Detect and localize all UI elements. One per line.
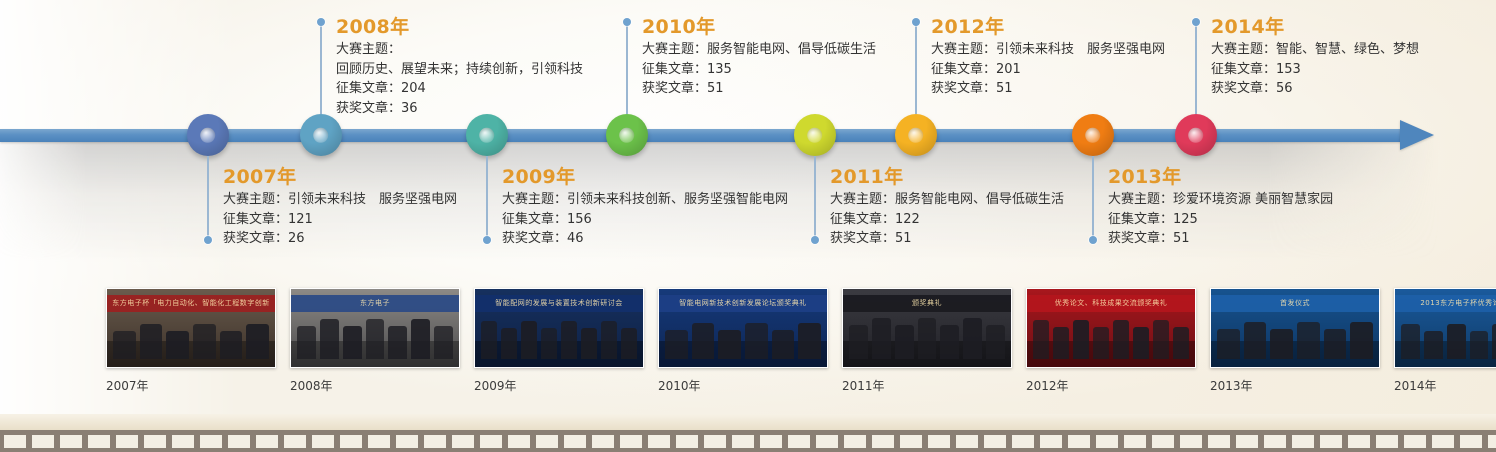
timeline-card-2010: 2010年 大赛主题：服务智能电网、倡导低碳生活 征集文章：135 获奖文章：5…: [642, 16, 876, 99]
gallery-item[interactable]: 优秀论文、科技成果交流颁奖典礼2012年: [1026, 288, 1194, 394]
photo-person: [1053, 327, 1069, 359]
photo-person: [1270, 329, 1293, 359]
timeline-stem-cap-2009: [483, 236, 491, 244]
filmstrip-hole: [788, 435, 810, 448]
filmstrip-hole: [1404, 435, 1426, 448]
timeline-dot-2009[interactable]: [466, 114, 508, 156]
timeline-dot-2007[interactable]: [187, 114, 229, 156]
filmstrip-hole: [88, 435, 110, 448]
timeline-stem-2013: [1092, 156, 1094, 240]
theme-line: 大赛主题：珍爱环境资源 美丽智慧家园: [1108, 190, 1333, 210]
photo-person: [621, 328, 637, 359]
filmstrip-hole: [732, 435, 754, 448]
filmstrip-hole: [536, 435, 558, 448]
gallery-caption: 2014年: [1394, 377, 1496, 394]
photo-banner-text: 东方电子杯「电力自动化、智能化工程数字创新技术」: [111, 297, 271, 310]
photo-person: [849, 325, 868, 359]
photo-person: [388, 326, 407, 359]
theme-line: 大赛主题：服务智能电网、倡导低碳生活: [830, 190, 1064, 210]
photo-person: [895, 325, 914, 359]
photo-person: [193, 324, 216, 359]
filmstrip-hole: [1012, 435, 1034, 448]
filmstrip-hole: [396, 435, 418, 448]
gallery-photo[interactable]: 东方电子: [290, 288, 460, 368]
awarded-line: 获奖文章：26: [223, 229, 457, 249]
filmstrip-hole: [592, 435, 614, 448]
filmstrip-hole: [4, 435, 26, 448]
footer-gradient-band: [0, 414, 1496, 430]
filmstrip-hole: [1096, 435, 1118, 448]
photo-person: [320, 319, 339, 359]
photo-person: [434, 326, 453, 359]
timeline-card-2007: 2007年 大赛主题：引领未来科技 服务坚强电网 征集文章：121 获奖文章：2…: [223, 166, 457, 249]
gallery-caption: 2013年: [1210, 377, 1378, 394]
filmstrip-hole: [928, 435, 950, 448]
gallery-item[interactable]: 智能电网新技术创新发展论坛颁奖典礼2010年: [658, 288, 826, 394]
timeline: 2007年 大赛主题：引领未来科技 服务坚强电网 征集文章：121 获奖文章：2…: [0, 0, 1496, 268]
gallery-caption: 2009年: [474, 377, 642, 394]
gallery-photo[interactable]: 优秀论文、科技成果交流颁奖典礼: [1026, 288, 1196, 368]
photo-person: [601, 321, 617, 359]
filmstrip-hole: [704, 435, 726, 448]
photo-people: [1401, 315, 1496, 359]
timeline-stem-cap-2007: [204, 236, 212, 244]
gallery-caption: 2010年: [658, 377, 826, 394]
photo-people: [849, 315, 1005, 359]
filmstrip-hole: [844, 435, 866, 448]
photo-person: [343, 326, 362, 359]
theme-line: 大赛主题：引领未来科技 服务坚强电网: [931, 40, 1165, 60]
filmstrip-hole: [1068, 435, 1090, 448]
year-label: 2008年: [336, 16, 583, 38]
photo-people: [665, 315, 821, 359]
gallery-caption: 2011年: [842, 377, 1010, 394]
photo-people: [113, 315, 269, 359]
photo-banner-text: 优秀论文、科技成果交流颁奖典礼: [1031, 297, 1191, 310]
photo-person: [1492, 324, 1496, 359]
photo-gallery: 东方电子杯「电力自动化、智能化工程数字创新技术」2007年东方电子2008年智能…: [106, 288, 1496, 394]
timeline-dot-2008[interactable]: [300, 114, 342, 156]
photo-person: [745, 323, 768, 359]
filmstrip-hole: [1208, 435, 1230, 448]
filmstrip-hole: [1376, 435, 1398, 448]
timeline-stem-2014: [1195, 22, 1197, 114]
year-label: 2009年: [502, 166, 788, 188]
photo-person: [581, 328, 597, 359]
filmstrip-border: [0, 430, 1496, 452]
photo-person: [411, 319, 430, 359]
filmstrip-hole: [424, 435, 446, 448]
photo-person: [1217, 329, 1240, 359]
photo-person: [665, 330, 688, 359]
filmstrip-hole: [760, 435, 782, 448]
timeline-stem-2008: [320, 22, 322, 114]
filmstrip-hole: [1264, 435, 1286, 448]
filmstrip-hole: [900, 435, 922, 448]
gallery-caption: 2007年: [106, 377, 274, 394]
year-label: 2014年: [1211, 16, 1419, 38]
photo-person: [521, 321, 537, 359]
timeline-card-2008: 2008年 大赛主题： 回顾历史、展望未来；持续创新，引领科技 征集文章：204…: [336, 16, 583, 118]
timeline-card-2011: 2011年 大赛主题：服务智能电网、倡导低碳生活 征集文章：122 获奖文章：5…: [830, 166, 1064, 249]
filmstrip-hole: [32, 435, 54, 448]
photo-person: [220, 331, 243, 359]
awarded-line: 获奖文章：46: [502, 229, 788, 249]
photo-people: [481, 315, 637, 359]
photo-person: [1324, 329, 1347, 359]
submitted-line: 征集文章：153: [1211, 60, 1419, 80]
photo-person: [1113, 320, 1129, 359]
submitted-line: 征集文章：122: [830, 210, 1064, 230]
photo-person: [798, 323, 821, 359]
photo-person: [940, 325, 959, 359]
filmstrip-hole: [1152, 435, 1174, 448]
filmstrip-hole: [452, 435, 474, 448]
photo-person: [872, 318, 891, 359]
filmstrip-hole: [480, 435, 502, 448]
timeline-card-2012: 2012年 大赛主题：引领未来科技 服务坚强电网 征集文章：201 获奖文章：5…: [931, 16, 1165, 99]
photo-person: [1350, 322, 1373, 359]
gallery-item[interactable]: 2013东方电子杯优秀论文颁奖典礼2014年: [1394, 288, 1496, 394]
photo-person: [481, 321, 497, 359]
year-label: 2007年: [223, 166, 457, 188]
filmstrip-hole: [172, 435, 194, 448]
photo-person: [297, 326, 316, 359]
photo-person: [1297, 322, 1320, 359]
filmstrip-hole: [1320, 435, 1342, 448]
photo-person: [1033, 320, 1049, 359]
filmstrip-hole: [1180, 435, 1202, 448]
gallery-photo[interactable]: 智能配网的发展与装置技术创新研讨会: [474, 288, 644, 368]
photo-person: [1093, 327, 1109, 359]
theme-line: 大赛主题：智能、智慧、绿色、梦想: [1211, 40, 1419, 60]
timeline-stem-cap-2012: [912, 18, 920, 26]
photo-person: [561, 321, 577, 359]
photo-banner-text: 颁奖典礼: [847, 297, 1007, 310]
timeline-stem-2011: [814, 156, 816, 240]
photo-person: [1401, 324, 1420, 359]
photo-person: [718, 330, 741, 359]
photo-person: [1153, 320, 1169, 359]
filmstrip-hole: [956, 435, 978, 448]
filmstrip-hole: [816, 435, 838, 448]
gallery-photo[interactable]: 2013东方电子杯优秀论文颁奖典礼: [1394, 288, 1496, 368]
filmstrip-hole: [60, 435, 82, 448]
filmstrip-hole: [1460, 435, 1482, 448]
timeline-card-2013: 2013年 大赛主题：珍爱环境资源 美丽智慧家园 征集文章：125 获奖文章：5…: [1108, 166, 1333, 249]
photo-person: [501, 328, 517, 359]
awarded-line: 获奖文章：51: [830, 229, 1064, 249]
theme-line: 大赛主题：引领未来科技 服务坚强电网: [223, 190, 457, 210]
photo-person: [246, 324, 269, 359]
timeline-dot-2014[interactable]: [1175, 114, 1217, 156]
filmstrip-hole: [564, 435, 586, 448]
photo-people: [1217, 315, 1373, 359]
year-label: 2012年: [931, 16, 1165, 38]
awarded-line: 获奖文章：51: [931, 79, 1165, 99]
filmstrip-hole: [984, 435, 1006, 448]
timeline-card-2009: 2009年 大赛主题：引领未来科技创新、服务坚强智能电网 征集文章：156 获奖…: [502, 166, 788, 249]
submitted-line: 征集文章：204: [336, 79, 583, 99]
filmstrip-hole: [312, 435, 334, 448]
timeline-stem-2012: [915, 22, 917, 114]
awarded-line: 获奖文章：51: [642, 79, 876, 99]
submitted-line: 征集文章：135: [642, 60, 876, 80]
photo-person: [1133, 327, 1149, 359]
filmstrip-hole: [620, 435, 642, 448]
photo-person: [1173, 327, 1189, 359]
photo-person: [986, 325, 1005, 359]
filmstrip-hole: [1292, 435, 1314, 448]
timeline-stem-2010: [626, 22, 628, 114]
timeline-stem-cap-2014: [1192, 18, 1200, 26]
photo-people: [1033, 315, 1189, 359]
timeline-stem-cap-2010: [623, 18, 631, 26]
awarded-line: 获奖文章：56: [1211, 79, 1419, 99]
filmstrip-hole: [508, 435, 530, 448]
filmstrip-hole: [116, 435, 138, 448]
filmstrip-hole: [1348, 435, 1370, 448]
gallery-item[interactable]: 东方电子杯「电力自动化、智能化工程数字创新技术」2007年: [106, 288, 274, 394]
filmstrip-hole: [200, 435, 222, 448]
photo-banner-text: 首发仪式: [1215, 297, 1375, 310]
gallery-photo[interactable]: 智能电网新技术创新发展论坛颁奖典礼: [658, 288, 828, 368]
photo-person: [113, 331, 136, 359]
photo-banner-text: 智能电网新技术创新发展论坛颁奖典礼: [663, 297, 823, 310]
timeline-stem-cap-2011: [811, 236, 819, 244]
timeline-stem-cap-2008: [317, 18, 325, 26]
photo-person: [1424, 331, 1443, 359]
photo-person: [1447, 324, 1466, 359]
photo-person: [1073, 320, 1089, 359]
theme-line: 回顾历史、展望未来；持续创新，引领科技: [336, 60, 583, 80]
gallery-item[interactable]: 智能配网的发展与装置技术创新研讨会2009年: [474, 288, 642, 394]
filmstrip-hole: [1432, 435, 1454, 448]
theme-label-line: 大赛主题：: [336, 40, 583, 60]
gallery-item[interactable]: 首发仪式2013年: [1210, 288, 1378, 394]
filmstrip-hole: [1488, 435, 1496, 448]
filmstrip-hole: [1236, 435, 1258, 448]
submitted-line: 征集文章：125: [1108, 210, 1333, 230]
photo-person: [963, 318, 982, 359]
filmstrip-hole: [228, 435, 250, 448]
awarded-line: 获奖文章：36: [336, 99, 583, 119]
photo-people: [297, 315, 453, 359]
gallery-item[interactable]: 东方电子2008年: [290, 288, 458, 394]
gallery-photo[interactable]: 东方电子杯「电力自动化、智能化工程数字创新技术」: [106, 288, 276, 368]
theme-line: 大赛主题：服务智能电网、倡导低碳生活: [642, 40, 876, 60]
timeline-stem-2009: [486, 156, 488, 240]
awarded-line: 获奖文章：51: [1108, 229, 1333, 249]
photo-banner-text: 2013东方电子杯优秀论文颁奖典礼: [1399, 297, 1496, 310]
filmstrip-hole: [676, 435, 698, 448]
filmstrip-hole: [872, 435, 894, 448]
filmstrip-hole: [648, 435, 670, 448]
gallery-photo[interactable]: 首发仪式: [1210, 288, 1380, 368]
timeline-dot-2010[interactable]: [606, 114, 648, 156]
timeline-dot-2011[interactable]: [794, 114, 836, 156]
photo-person: [366, 319, 385, 359]
infographic-canvas: 2007年 大赛主题：引领未来科技 服务坚强电网 征集文章：121 获奖文章：2…: [0, 0, 1496, 452]
filmstrip-hole: [284, 435, 306, 448]
filmstrip-hole: [340, 435, 362, 448]
submitted-line: 征集文章：156: [502, 210, 788, 230]
timeline-stem-cap-2013: [1089, 236, 1097, 244]
timeline-arrow-icon: [1400, 120, 1434, 150]
photo-person: [692, 323, 715, 359]
gallery-photo[interactable]: 颁奖典礼: [842, 288, 1012, 368]
timeline-stem-2007: [207, 156, 209, 240]
filmstrip-hole: [368, 435, 390, 448]
filmstrip-hole: [256, 435, 278, 448]
gallery-item[interactable]: 颁奖典礼2011年: [842, 288, 1010, 394]
photo-person: [140, 324, 163, 359]
gallery-caption: 2008年: [290, 377, 458, 394]
year-label: 2010年: [642, 16, 876, 38]
theme-line: 大赛主题：引领未来科技创新、服务坚强智能电网: [502, 190, 788, 210]
photo-banner-text: 智能配网的发展与装置技术创新研讨会: [479, 297, 639, 310]
photo-person: [1470, 331, 1489, 359]
photo-person: [166, 331, 189, 359]
photo-person: [918, 318, 937, 359]
timeline-card-2014: 2014年 大赛主题：智能、智慧、绿色、梦想 征集文章：153 获奖文章：56: [1211, 16, 1419, 99]
photo-person: [772, 330, 795, 359]
photo-banner-text: 东方电子: [295, 297, 455, 310]
timeline-dot-2013[interactable]: [1072, 114, 1114, 156]
timeline-dot-2012[interactable]: [895, 114, 937, 156]
gallery-caption: 2012年: [1026, 377, 1194, 394]
filmstrip-hole: [1124, 435, 1146, 448]
year-label: 2011年: [830, 166, 1064, 188]
year-label: 2013年: [1108, 166, 1333, 188]
filmstrip-hole: [1040, 435, 1062, 448]
photo-person: [541, 328, 557, 359]
photo-person: [1244, 322, 1267, 359]
submitted-line: 征集文章：201: [931, 60, 1165, 80]
filmstrip-hole: [144, 435, 166, 448]
submitted-line: 征集文章：121: [223, 210, 457, 230]
